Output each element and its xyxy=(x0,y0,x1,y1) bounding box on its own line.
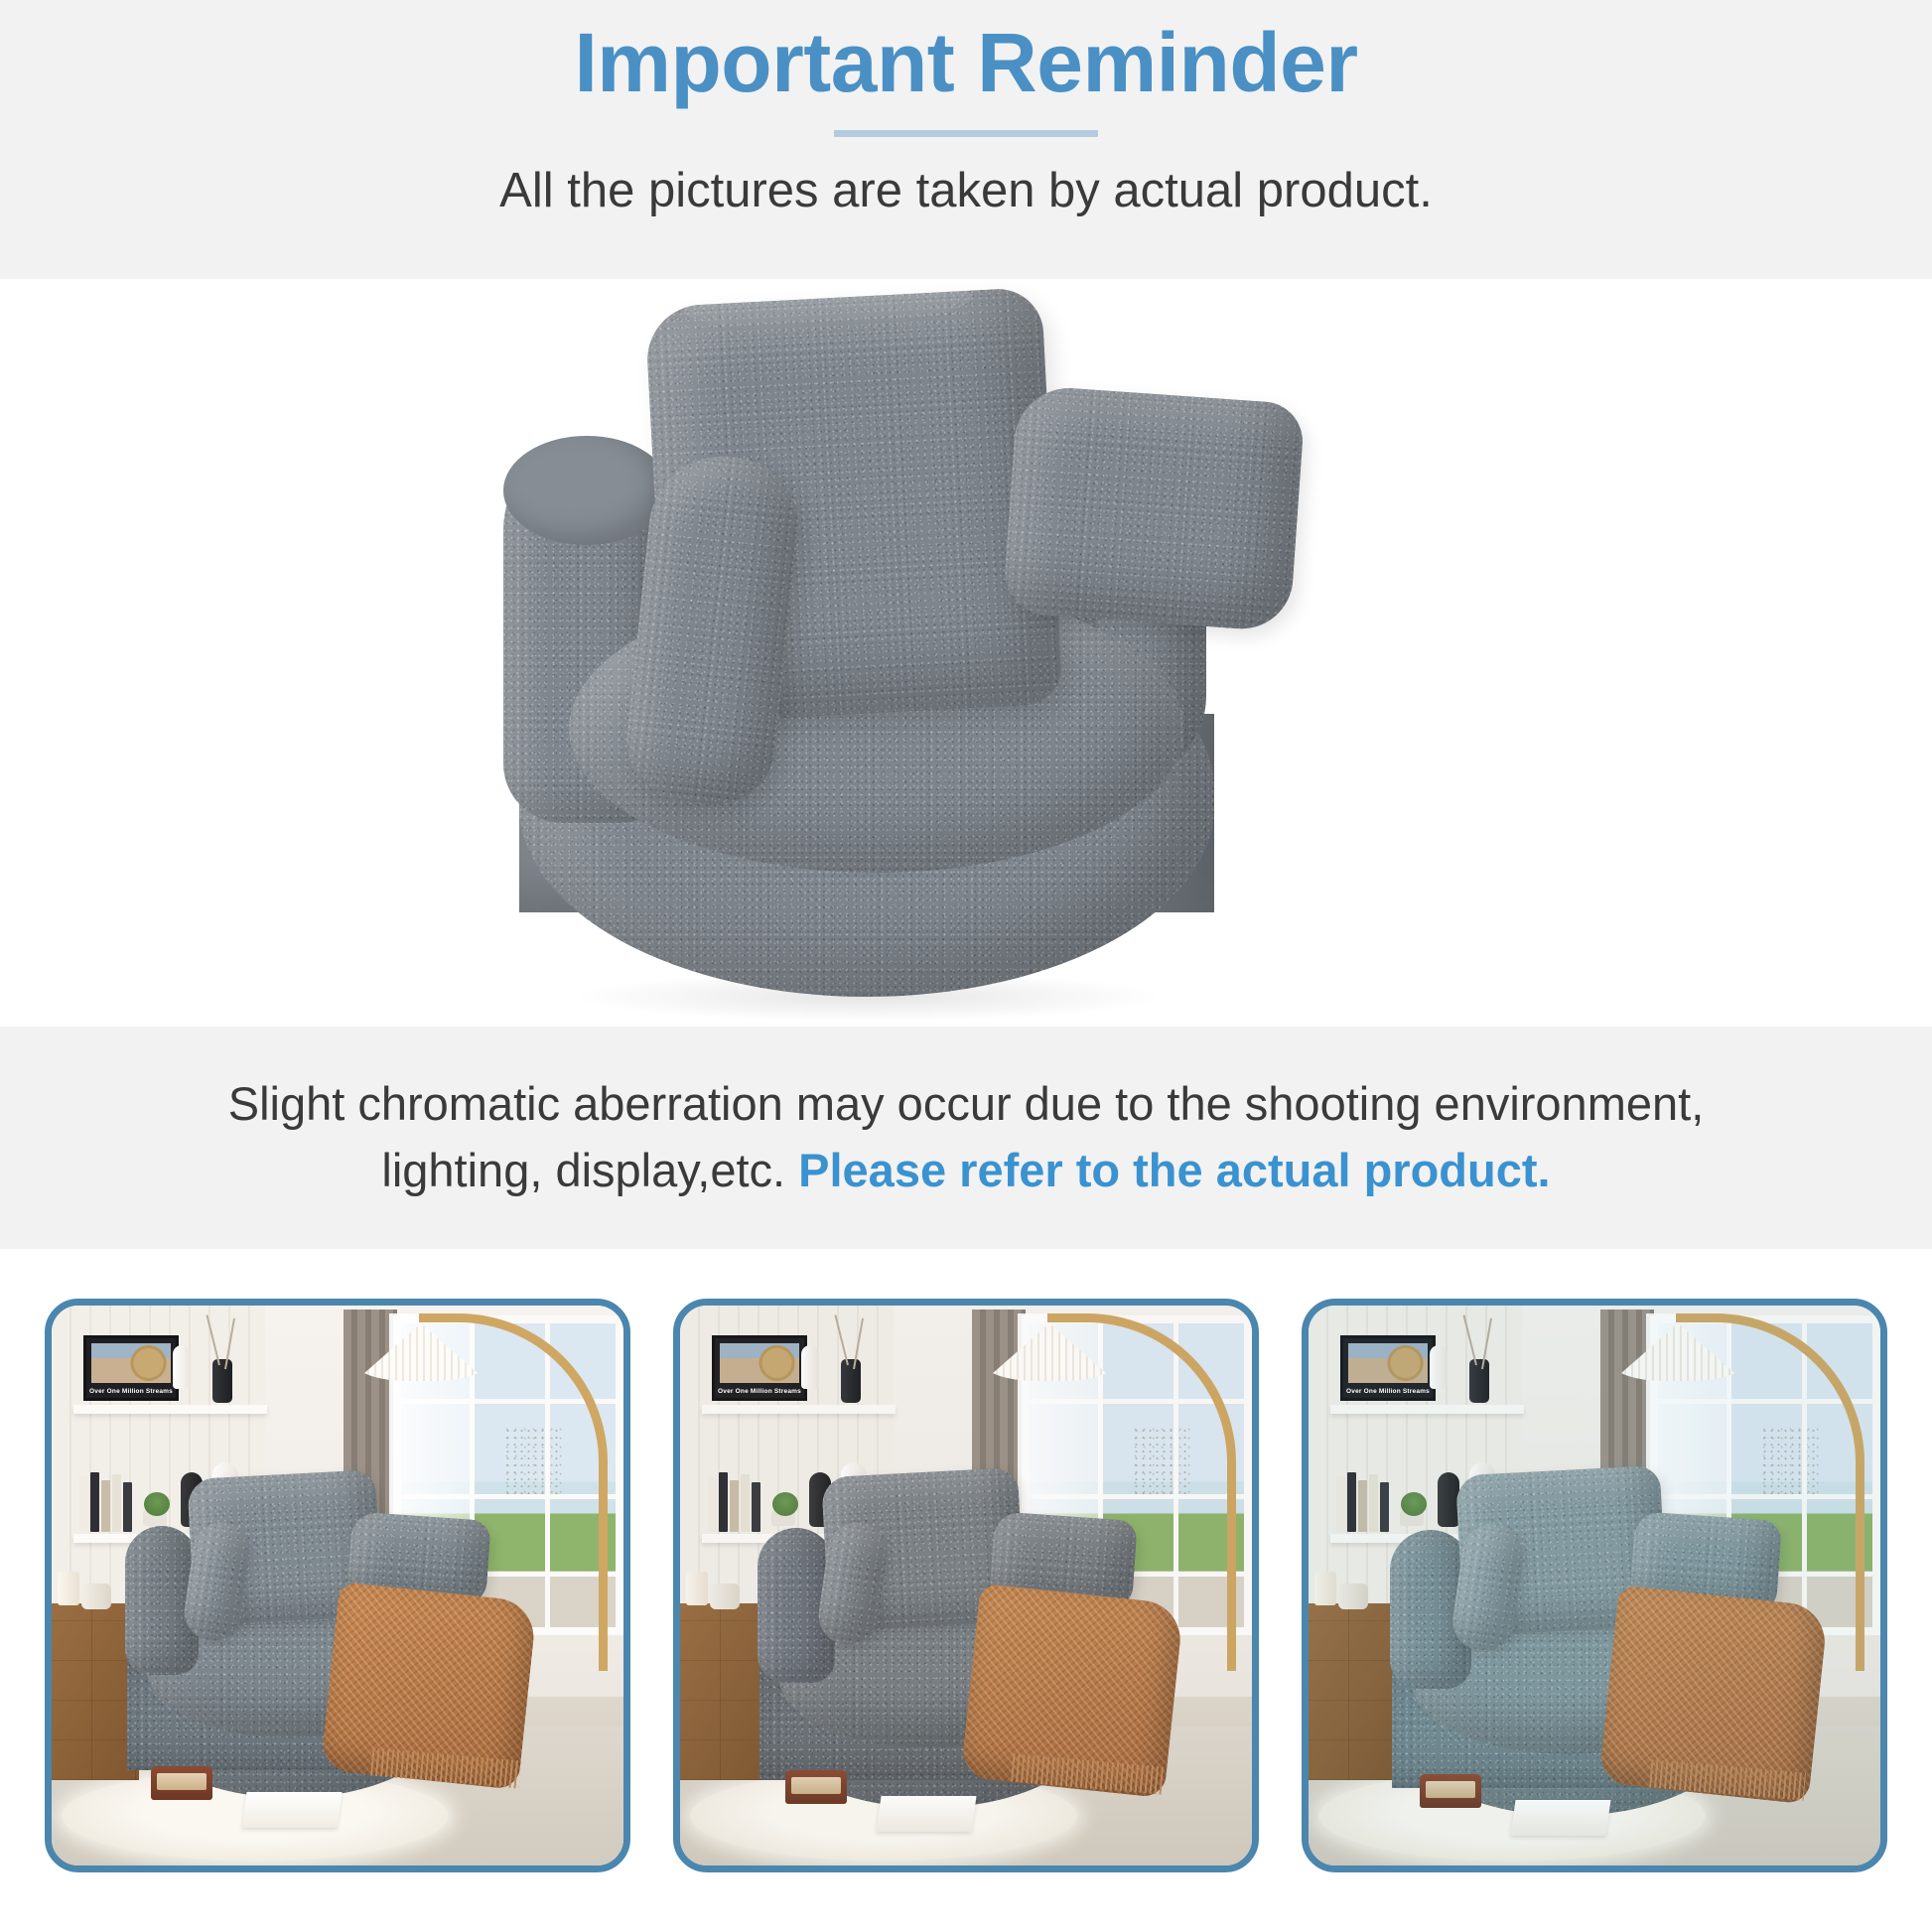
hero-product-photo xyxy=(0,279,1932,1027)
candle-holder xyxy=(1338,1584,1368,1609)
room-scene-1: Over One Million Streams xyxy=(52,1306,623,1865)
poster-artwork xyxy=(1348,1343,1428,1383)
candle xyxy=(58,1572,79,1605)
note-line-1: Slight chromatic aberration may occur du… xyxy=(228,1071,1705,1138)
side-pillow-right xyxy=(1002,384,1305,632)
chair-arm-left-cap xyxy=(503,436,670,545)
hero-chair-illustration xyxy=(452,287,1484,1027)
open-book-prop xyxy=(1510,1800,1610,1836)
lifestyle-thumbnail-row: Over One Million Streams xyxy=(45,1299,1887,1872)
radio-face xyxy=(157,1773,207,1790)
poster-caption: Over One Million Streams xyxy=(715,1388,804,1398)
framed-poster: Over One Million Streams xyxy=(83,1335,179,1401)
poster-artwork xyxy=(720,1343,799,1383)
toy-radio-prop xyxy=(785,1770,847,1804)
side-table xyxy=(680,1603,767,1780)
open-book-prop xyxy=(241,1792,342,1828)
poster-caption: Over One Million Streams xyxy=(86,1388,176,1398)
note-line-2-plain: lighting, display,etc. xyxy=(381,1144,798,1196)
candle-holder xyxy=(710,1584,740,1609)
radio-face xyxy=(791,1777,841,1794)
note-line-2-accent: Please refer to the actual product. xyxy=(798,1144,1550,1196)
open-book-prop xyxy=(876,1796,976,1832)
framed-poster: Over One Million Streams xyxy=(712,1335,807,1401)
infographic-page: Important Reminder All the pictures are … xyxy=(0,0,1932,1932)
lifestyle-thumbnail-3[interactable]: Over One Million Streams xyxy=(1302,1299,1887,1872)
chromatic-note-band: Slight chromatic aberration may occur du… xyxy=(0,1027,1932,1249)
poster-caption: Over One Million Streams xyxy=(1343,1388,1433,1398)
room-scene-2: Over One Million Streams xyxy=(680,1306,1252,1865)
note-line-2: lighting, display,etc. Please refer to t… xyxy=(381,1138,1550,1204)
lifestyle-thumbnail-2[interactable]: Over One Million Streams xyxy=(673,1299,1259,1872)
poster-artwork xyxy=(91,1343,171,1383)
page-title: Important Reminder xyxy=(574,18,1357,108)
lifestyle-thumbnail-1[interactable]: Over One Million Streams xyxy=(45,1299,630,1872)
title-divider xyxy=(834,130,1098,137)
candle xyxy=(686,1572,708,1605)
toy-radio-prop xyxy=(1420,1774,1481,1808)
room-scene-3: Over One Million Streams xyxy=(1309,1306,1880,1865)
framed-poster: Over One Million Streams xyxy=(1340,1335,1436,1401)
header-band: Important Reminder All the pictures are … xyxy=(0,0,1932,279)
candle xyxy=(1314,1572,1336,1605)
side-table xyxy=(1309,1603,1396,1780)
radio-face xyxy=(1426,1781,1475,1798)
candle-holder xyxy=(81,1584,111,1609)
toy-radio-prop xyxy=(151,1766,212,1800)
header-subtitle: All the pictures are taken by actual pro… xyxy=(499,163,1433,218)
